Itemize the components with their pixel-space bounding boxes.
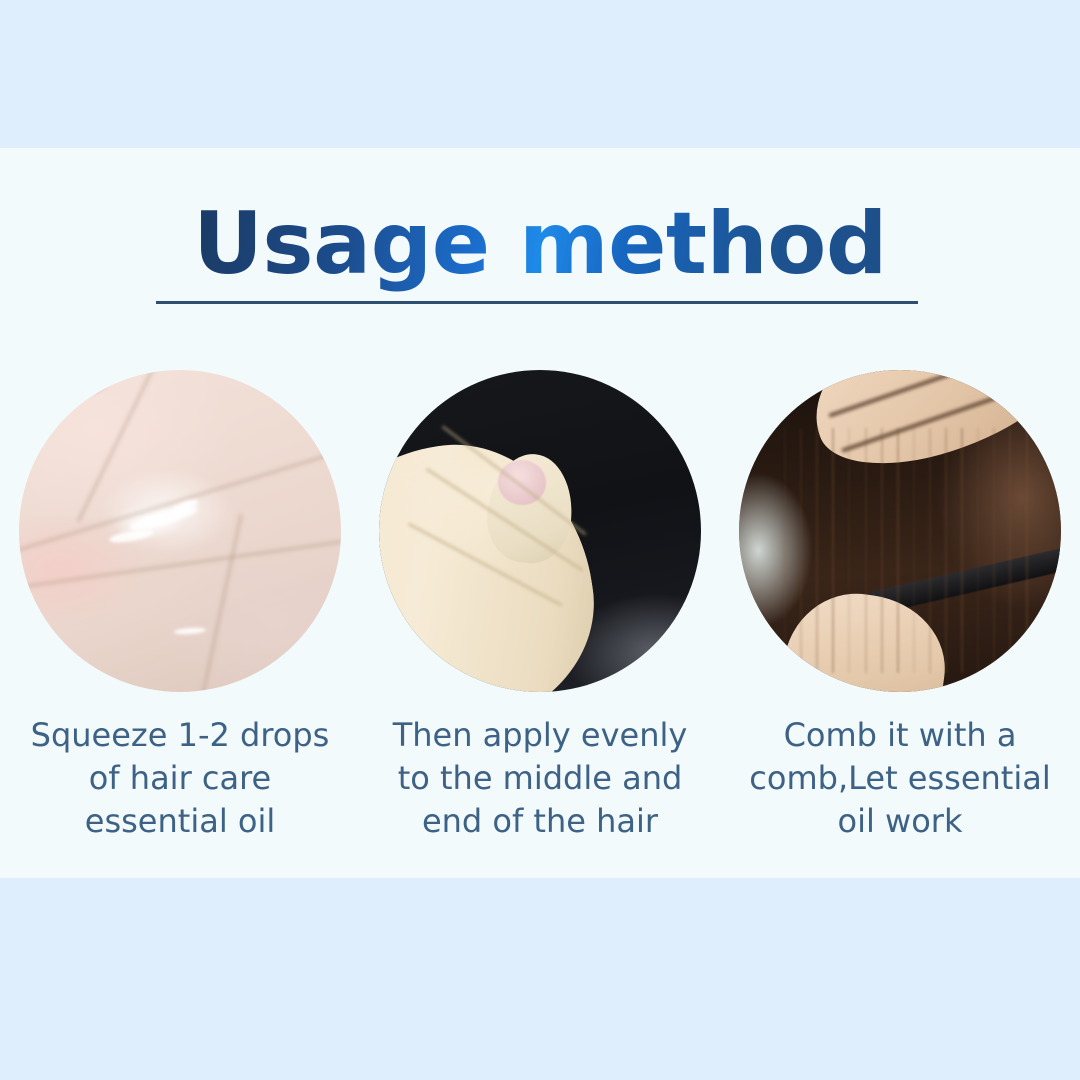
hair-strand <box>1009 428 1011 673</box>
hair-strand <box>848 428 850 673</box>
hair-strand <box>832 428 834 673</box>
hair-strand <box>929 428 931 673</box>
oil-drop <box>173 626 206 635</box>
step-3: Comb it with a comb,Let essential oil wo… <box>735 370 1065 843</box>
usage-method-poster: Usage method Squeeze 1-2 drops of ha <box>0 0 1080 1080</box>
palm-crease <box>19 448 341 553</box>
step-1-caption: Squeeze 1-2 drops of hair care essential… <box>15 714 345 843</box>
hair-strand <box>1026 428 1028 673</box>
hair-strand <box>961 428 963 673</box>
page-title: Usage method <box>193 196 887 292</box>
step-3-caption: Comb it with a comb,Let essential oil wo… <box>735 714 1065 843</box>
title-underline-rule <box>156 301 918 304</box>
hair-strand <box>913 428 915 673</box>
fingernail-detail <box>59 370 120 401</box>
title-area: Usage method <box>0 196 1080 292</box>
oil-drop <box>109 527 155 544</box>
hair-strand <box>800 428 802 673</box>
top-decorative-band <box>0 0 1080 148</box>
step-2: Then apply evenly to the middle and end … <box>375 370 705 843</box>
hair-strand <box>816 428 818 673</box>
hair-strand <box>977 428 979 673</box>
palm-crease <box>19 539 341 590</box>
palm-crease <box>21 586 72 692</box>
hair-strand <box>945 428 947 673</box>
step-1: Squeeze 1-2 drops of hair care essential… <box>15 370 345 843</box>
hair-strand <box>993 428 995 673</box>
oil-drops-on-palm-photo <box>19 370 341 692</box>
step-2-caption: Then apply evenly to the middle and end … <box>375 714 705 843</box>
bottom-decorative-band <box>0 878 1080 1080</box>
hair-strand <box>784 428 786 673</box>
combing-hair-photo <box>739 370 1061 692</box>
steps-row: Squeeze 1-2 drops of hair care essential… <box>0 370 1080 843</box>
hair-strand <box>881 428 883 673</box>
applying-oil-to-hair-photo <box>379 370 701 692</box>
palm-crease <box>198 514 242 692</box>
hair-strand <box>865 428 867 673</box>
hair-strand <box>897 428 899 673</box>
